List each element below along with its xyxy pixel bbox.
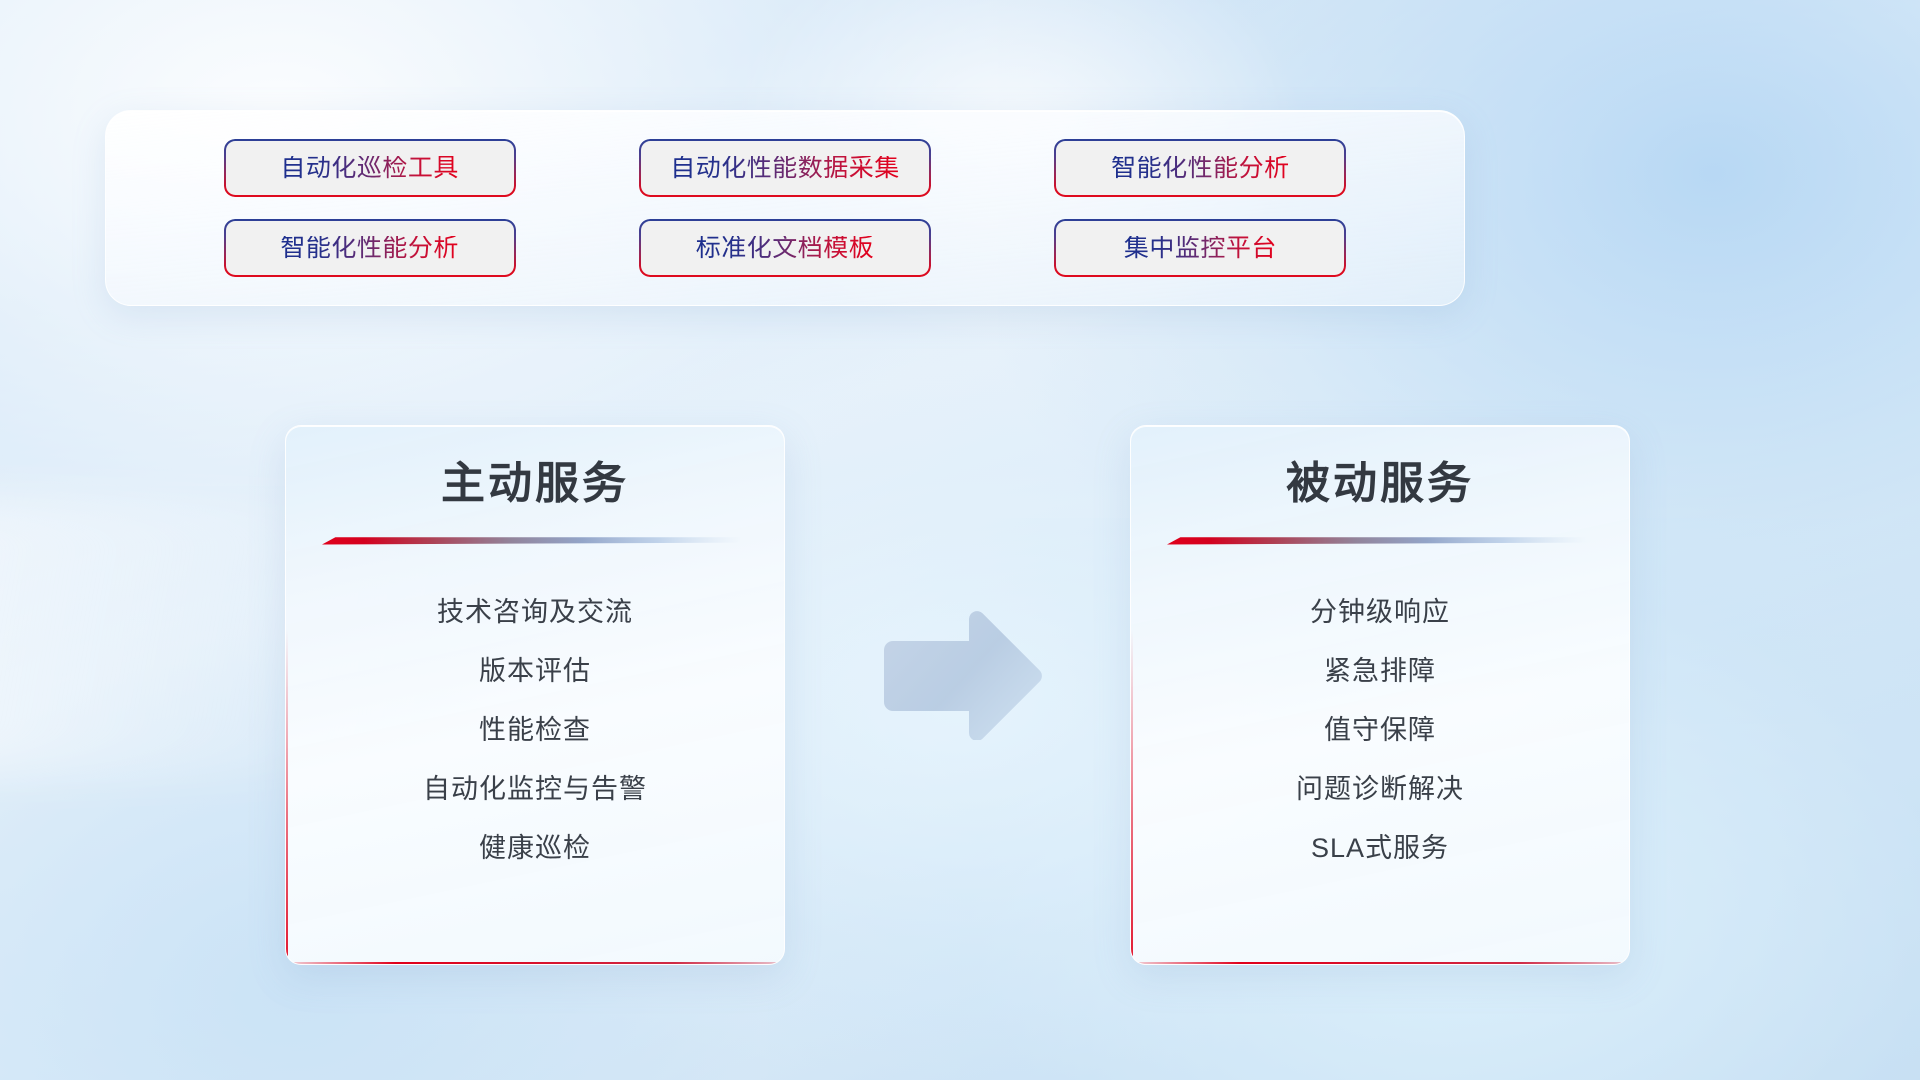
arrow-right-icon	[878, 608, 1046, 740]
capability-pill-label: 标准化文档模板	[696, 236, 875, 261]
service-item: 性能检查	[320, 701, 750, 760]
service-item: 问题诊断解决	[1165, 760, 1595, 819]
service-item: 紧急排障	[1165, 642, 1595, 701]
capability-pill-intelligent-performance-analysis-top[interactable]: 智能化性能分析	[1054, 139, 1346, 197]
service-item: 技术咨询及交流	[320, 583, 750, 642]
title-divider	[322, 534, 742, 545]
service-item: 健康巡检	[320, 819, 750, 878]
service-card-title: 被动服务	[1165, 458, 1595, 510]
capability-pill-panel: 自动化巡检工具 自动化性能数据采集 智能化性能分析 智能化性能分析 标准化文档模…	[105, 110, 1465, 306]
capability-pill-label: 自动化性能数据采集	[670, 156, 900, 181]
service-card-passive: 被动服务 分钟级响应 紧急排障	[1130, 425, 1630, 965]
title-divider	[1167, 534, 1587, 545]
capability-pill-label: 智能化性能分析	[1111, 156, 1290, 181]
service-item-list: 分钟级响应 紧急排障 值守保障 问题诊断解决 SLA式服务	[1165, 583, 1595, 878]
capability-pill-grid: 自动化巡检工具 自动化性能数据采集 智能化性能分析 智能化性能分析 标准化文档模…	[106, 111, 1464, 305]
service-item: 分钟级响应	[1165, 583, 1595, 642]
capability-pill-centralized-monitoring-platform[interactable]: 集中监控平台	[1054, 219, 1346, 277]
capability-pill-label: 自动化巡检工具	[280, 156, 459, 181]
capability-pill-automated-inspection-tool[interactable]: 自动化巡检工具	[224, 139, 516, 197]
capability-pill-intelligent-performance-analysis-bottom[interactable]: 智能化性能分析	[224, 219, 516, 277]
service-card-title: 主动服务	[320, 458, 750, 510]
service-item: 值守保障	[1165, 701, 1595, 760]
capability-pill-standardized-document-template[interactable]: 标准化文档模板	[639, 219, 931, 277]
service-item: 版本评估	[320, 642, 750, 701]
service-item: SLA式服务	[1165, 819, 1595, 878]
service-card-active: 主动服务 技术咨询及交流 版本评估	[285, 425, 785, 965]
service-item-list: 技术咨询及交流 版本评估 性能检查 自动化监控与告警 健康巡检	[320, 583, 750, 878]
capability-pill-automated-performance-data-collection[interactable]: 自动化性能数据采集	[639, 139, 931, 197]
capability-pill-label: 集中监控平台	[1124, 236, 1277, 261]
capability-pill-label: 智能化性能分析	[280, 236, 459, 261]
service-item: 自动化监控与告警	[320, 760, 750, 819]
